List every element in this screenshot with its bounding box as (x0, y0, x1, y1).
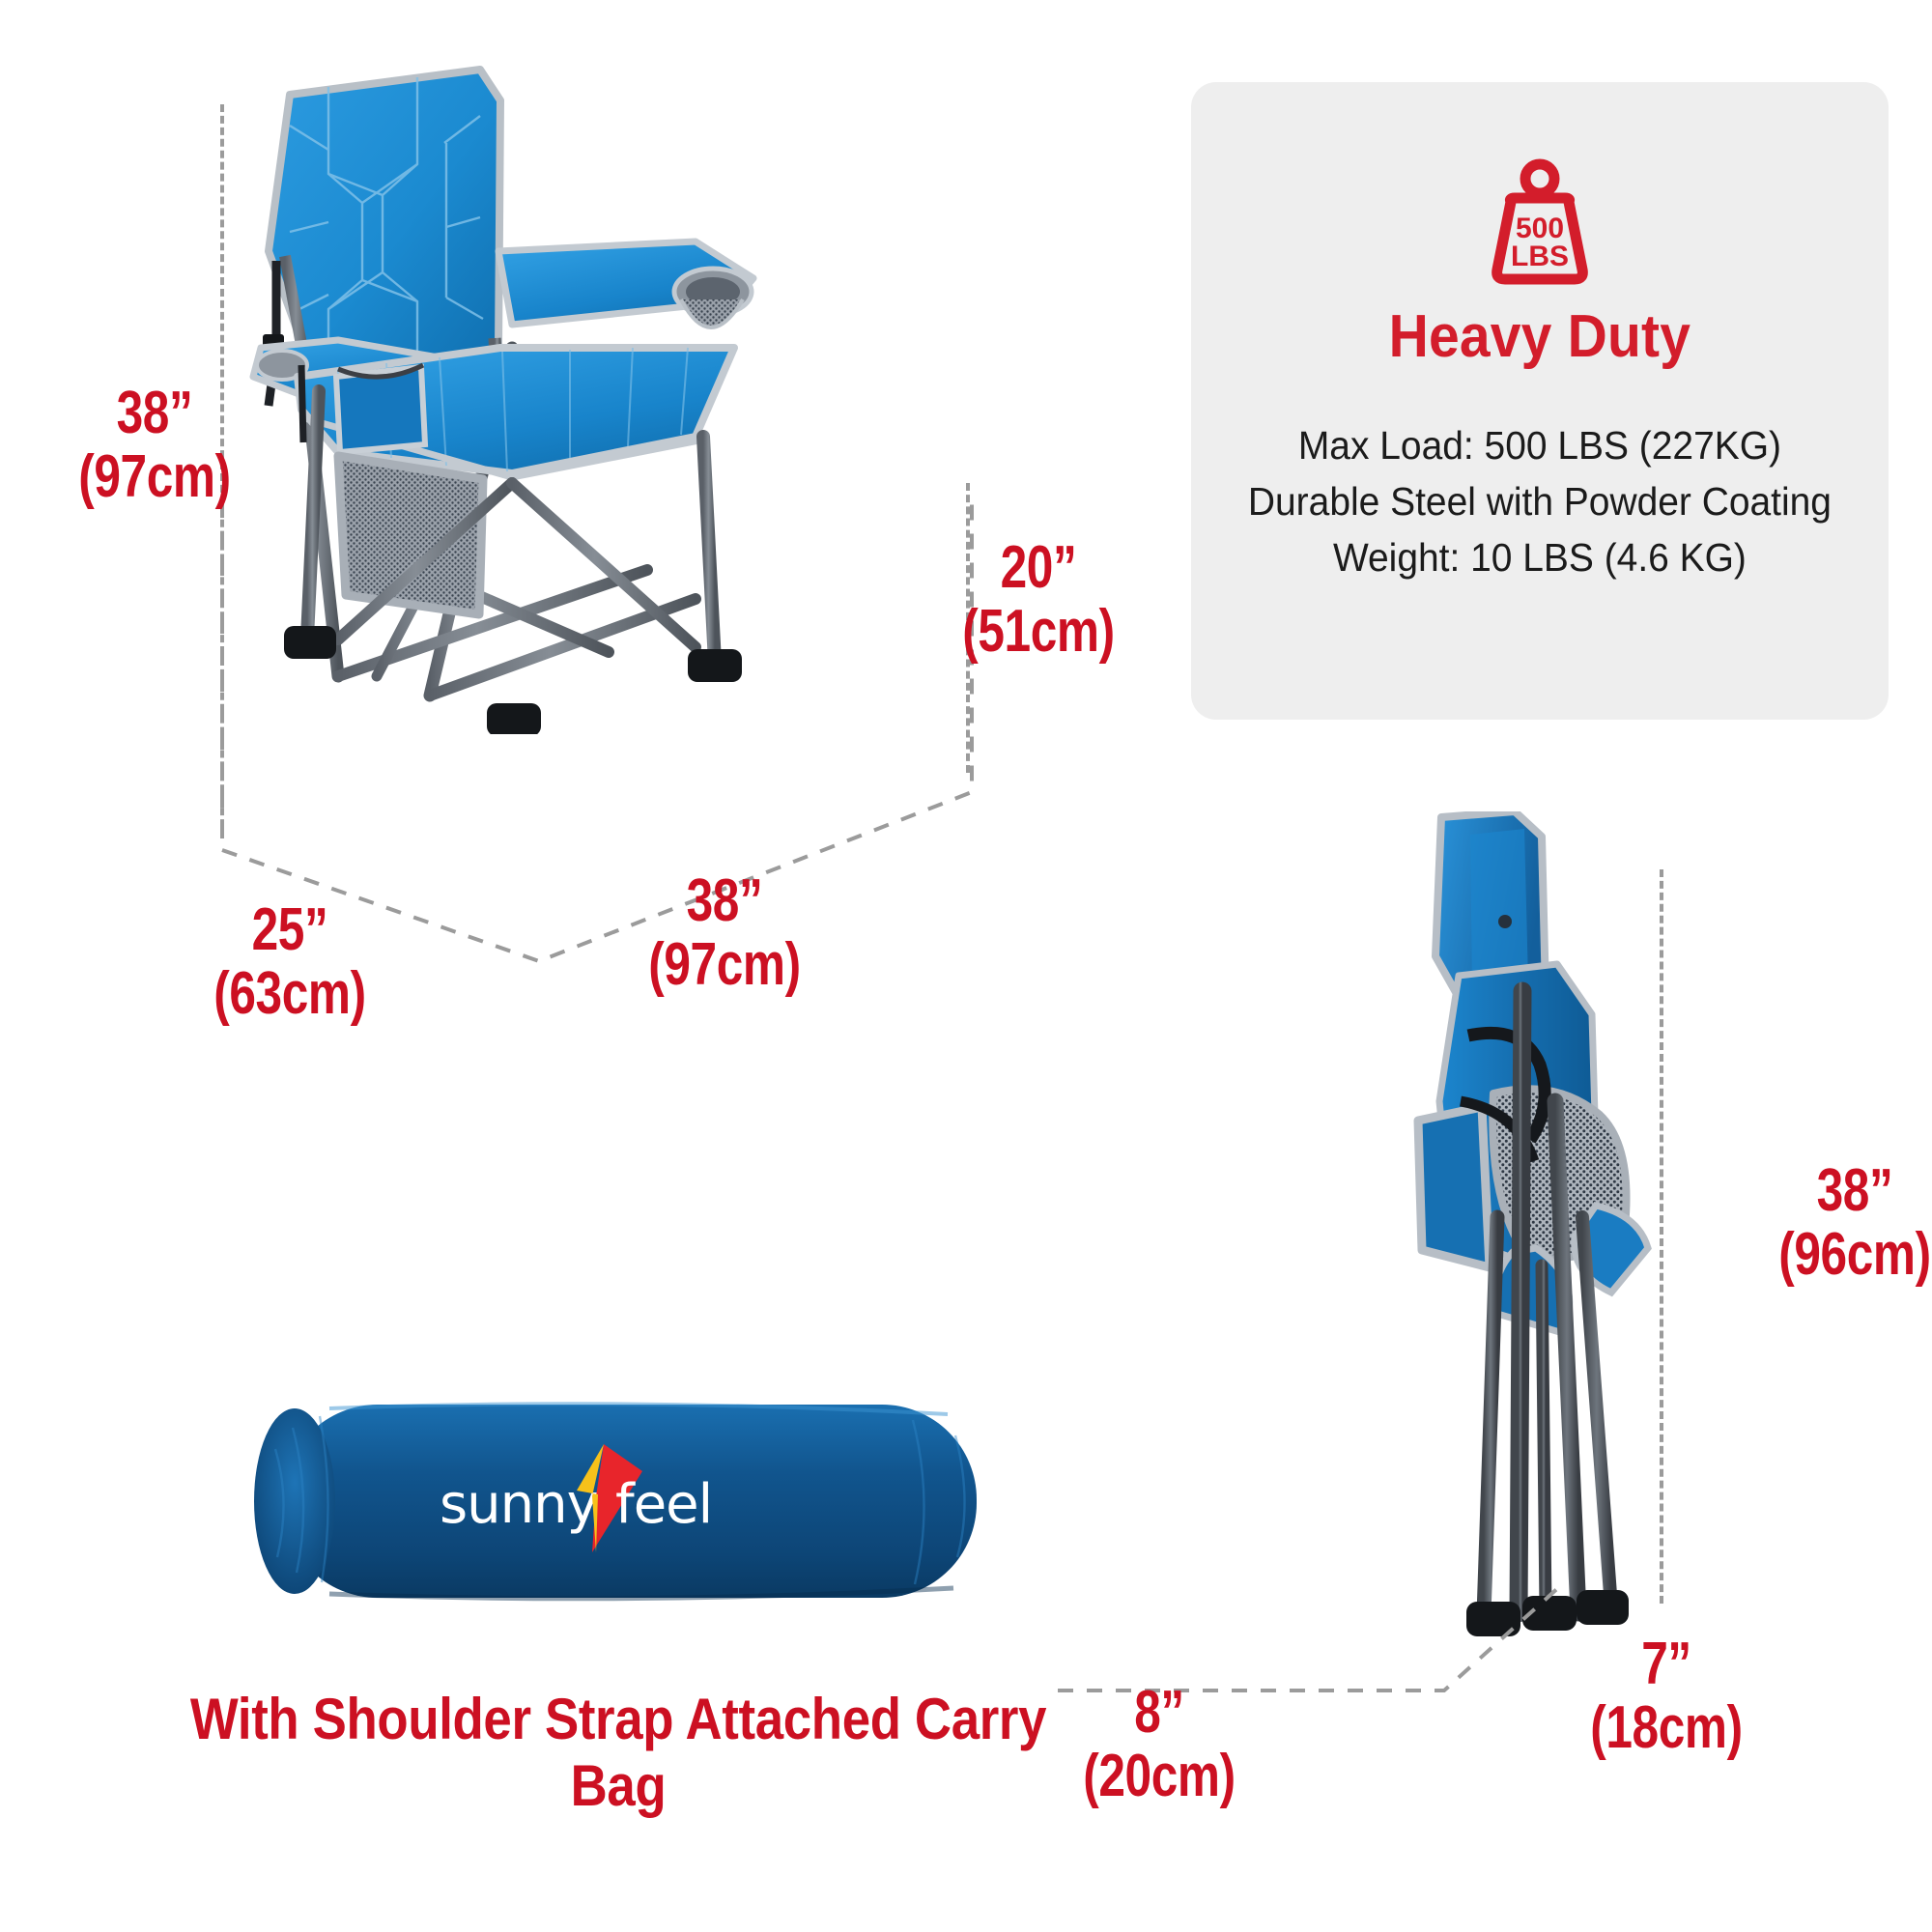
weight-500lbs-icon: 500 LBS (1482, 157, 1598, 285)
dimension-folded-width: 8” (20cm) (1032, 1681, 1287, 1807)
infographic-canvas: 38” (97cm) 20” (51cm) 25” (63cm) 38” (97… (0, 0, 1932, 1932)
carry-bag-caption: With Shoulder Strap Attached Carry Bag (176, 1686, 1060, 1819)
heavy-duty-spec-list: Max Load: 500 LBS (227KG) Durable Steel … (1233, 417, 1847, 586)
dimension-folded-depth: 7” (18cm) (1539, 1633, 1794, 1759)
spec-product-weight: Weight: 10 LBS (4.6 KG) (1248, 529, 1832, 585)
folded-chair-photo (1352, 811, 1758, 1710)
dimension-width-front-right: 38” (97cm) (597, 869, 852, 996)
guide-folded-height (1660, 869, 1663, 1604)
dimension-height-left: 38” (97cm) (27, 382, 282, 508)
spec-material: Durable Steel with Powder Coating (1248, 473, 1832, 529)
brand-logo: sunny feel (440, 1454, 729, 1547)
spec-max-load: Max Load: 500 LBS (227KG) (1248, 417, 1832, 473)
logo-text-feel: feel (615, 1473, 712, 1536)
weight-icon-unit: LBS (1511, 241, 1569, 272)
dimension-depth-front-left: 25” (63cm) (162, 898, 417, 1025)
dimension-folded-height: 38” (96cm) (1727, 1159, 1932, 1286)
heavy-duty-title: Heavy Duty (1389, 302, 1691, 371)
heavy-duty-card: 500 LBS Heavy Duty Max Load: 500 LBS (22… (1191, 82, 1889, 720)
dimension-seat-height-right: 20” (51cm) (911, 536, 1166, 663)
